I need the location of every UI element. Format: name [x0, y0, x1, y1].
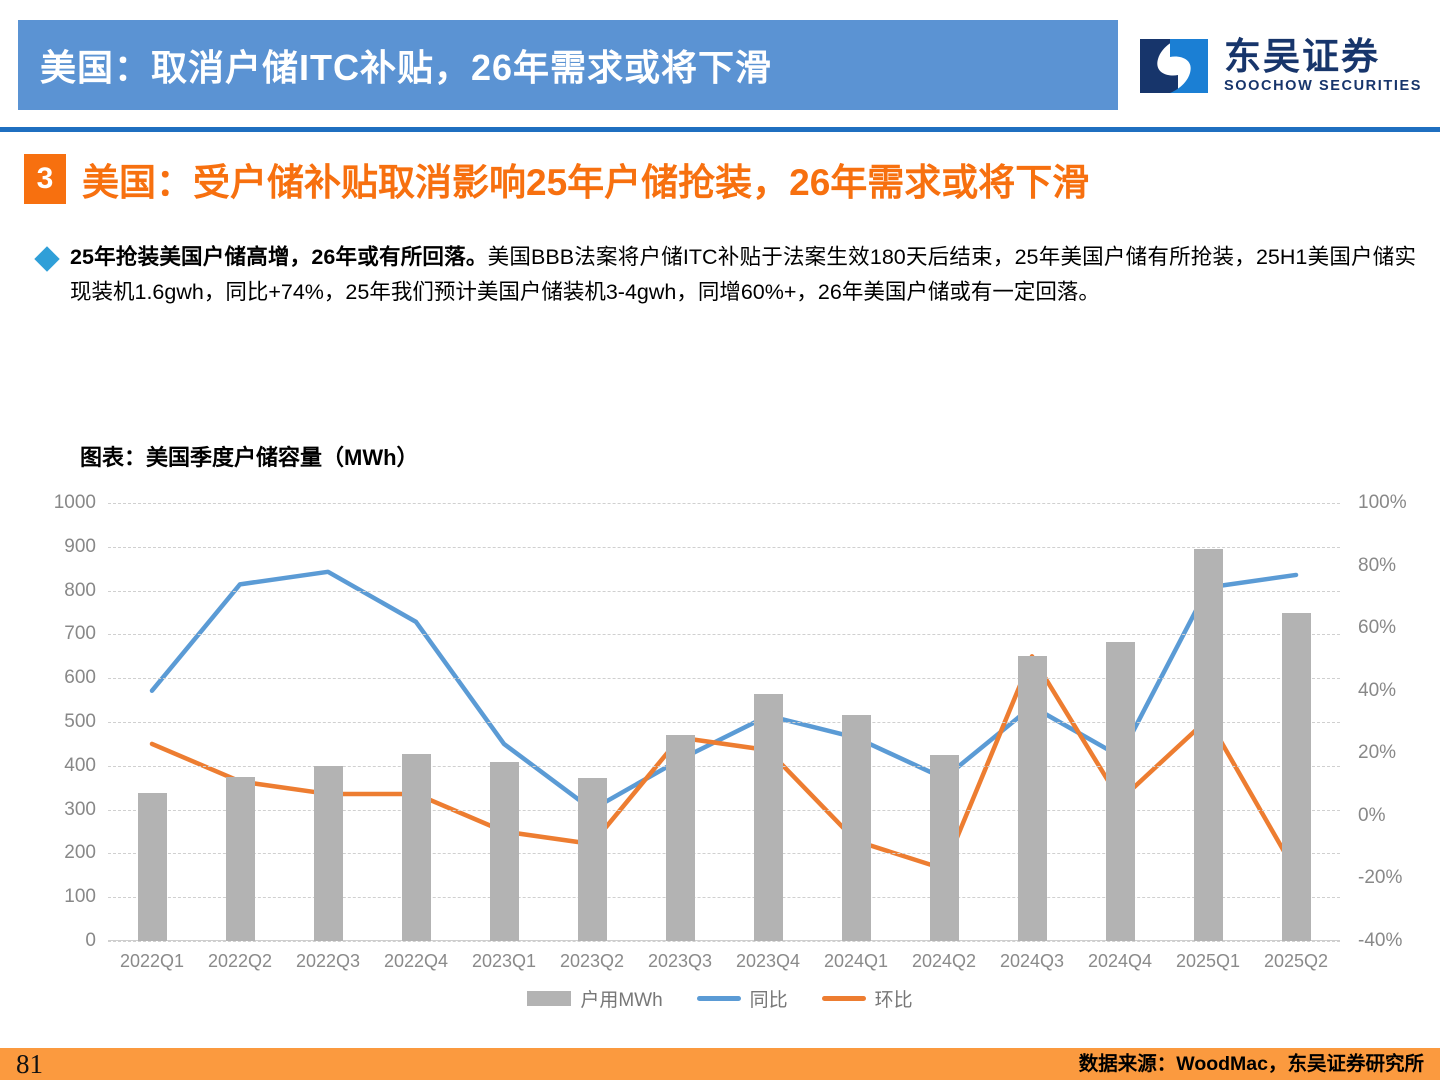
y-axis-tick-label: 500	[34, 711, 96, 733]
chart-container: 10009008007006005004003002001000 100%80%…	[0, 485, 1440, 1030]
diamond-bullet-icon	[34, 246, 59, 271]
y-axis-tick-label: 300	[34, 799, 96, 821]
page-number: 81	[0, 1049, 43, 1080]
y-axis-tick-label: 400	[34, 755, 96, 777]
y2-axis-tick-label: 40%	[1358, 680, 1428, 702]
chart-bar	[842, 715, 871, 941]
legend-item-yoy: 同比	[697, 985, 788, 1012]
y2-axis-tick-label: -20%	[1358, 867, 1428, 889]
chart-bar	[1282, 613, 1311, 942]
chart-gridline	[108, 634, 1340, 635]
y-axis-tick-label: 100	[34, 886, 96, 908]
y2-axis-tick-label: -40%	[1358, 930, 1428, 952]
y-axis-tick-label: 600	[34, 667, 96, 689]
chart-bar	[490, 762, 519, 941]
chart-gridline	[108, 897, 1340, 898]
y-axis-tick-label: 0	[34, 930, 96, 952]
y2-axis-tick-label: 20%	[1358, 742, 1428, 764]
chart-gridline	[108, 547, 1340, 548]
y-axis-tick-label: 700	[34, 623, 96, 645]
y-axis-tick-label: 800	[34, 580, 96, 602]
y-axis-tick-label: 200	[34, 842, 96, 864]
paragraph-lead: 25年抢装美国户储高增，26年或有所回落。	[70, 245, 488, 269]
logo-english-name: SOOCHOW SECURITIES	[1224, 78, 1422, 94]
y2-axis-tick-label: 100%	[1358, 492, 1428, 514]
logo-text: 东吴证券 SOOCHOW SECURITIES	[1224, 38, 1422, 95]
y-axis-tick-label: 900	[34, 536, 96, 558]
chart-bar	[578, 778, 607, 941]
legend-swatch-yoy-icon	[697, 996, 741, 1001]
chart-gridline	[108, 678, 1340, 679]
chart-bar	[1018, 656, 1047, 941]
chart-legend: 户用MWh 同比 环比	[0, 985, 1440, 1012]
section-number-badge: 3	[24, 154, 66, 204]
soochow-logo-icon	[1138, 35, 1210, 97]
y-axis-tick-label: 1000	[34, 492, 96, 514]
y2-axis-tick-label: 0%	[1358, 805, 1428, 827]
legend-swatch-qoq-icon	[822, 996, 866, 1001]
chart-gridline	[108, 766, 1340, 767]
chart-bar	[314, 766, 343, 941]
legend-swatch-bar-icon	[527, 991, 571, 1006]
slide-title-bar: 美国：取消户储ITC补贴，26年需求或将下滑	[18, 20, 1118, 110]
legend-label-bars: 户用MWh	[580, 985, 662, 1012]
section-title: 美国：受户储补贴取消影响25年户储抢装，26年需求或将下滑	[82, 152, 1089, 206]
section-heading: 3 美国：受户储补贴取消影响25年户储抢装，26年需求或将下滑	[24, 152, 1089, 206]
chart-plot-area	[108, 503, 1340, 941]
header-divider-inner	[0, 132, 1440, 134]
y2-axis-tick-label: 80%	[1358, 555, 1428, 577]
page-title: 美国：取消户储ITC补贴，26年需求或将下滑	[18, 39, 772, 91]
chart-gridline	[108, 591, 1340, 592]
legend-item-bars: 户用MWh	[527, 985, 662, 1012]
legend-label-yoy: 同比	[750, 985, 788, 1012]
chart-bar	[402, 754, 431, 941]
data-source-note: 数据来源：WoodMac，东吴证券研究所	[1079, 1047, 1424, 1076]
legend-label-qoq: 环比	[875, 985, 913, 1012]
chart-bar	[138, 793, 167, 941]
legend-item-qoq: 环比	[822, 985, 913, 1012]
chart-bar	[1106, 642, 1135, 941]
chart-bar	[930, 755, 959, 941]
brand-logo: 东吴证券 SOOCHOW SECURITIES	[1122, 28, 1422, 104]
chart-bar	[226, 777, 255, 941]
chart-bar	[1194, 549, 1223, 941]
chart-bar	[666, 735, 695, 941]
y2-axis-tick-label: 60%	[1358, 617, 1428, 639]
chart-title: 图表：美国季度户储容量（MWh）	[80, 440, 419, 472]
body-paragraph: 25年抢装美国户储高增，26年或有所回落。美国BBB法案将户储ITC补贴于法案生…	[70, 240, 1416, 310]
chart-gridline	[108, 503, 1340, 504]
chart-gridline	[108, 722, 1340, 723]
chart-gridline	[108, 853, 1340, 854]
body-paragraph-block: 25年抢装美国户储高增，26年或有所回落。美国BBB法案将户储ITC补贴于法案生…	[38, 240, 1416, 310]
chart-bar	[754, 694, 783, 941]
chart-gridline	[108, 941, 1340, 942]
logo-chinese-name: 东吴证券	[1224, 38, 1380, 77]
chart-gridline	[108, 810, 1340, 811]
x-axis-tick-label: 2025Q2	[1236, 951, 1356, 972]
footer-bar: 81 数据来源：WoodMac，东吴证券研究所	[0, 1048, 1440, 1080]
